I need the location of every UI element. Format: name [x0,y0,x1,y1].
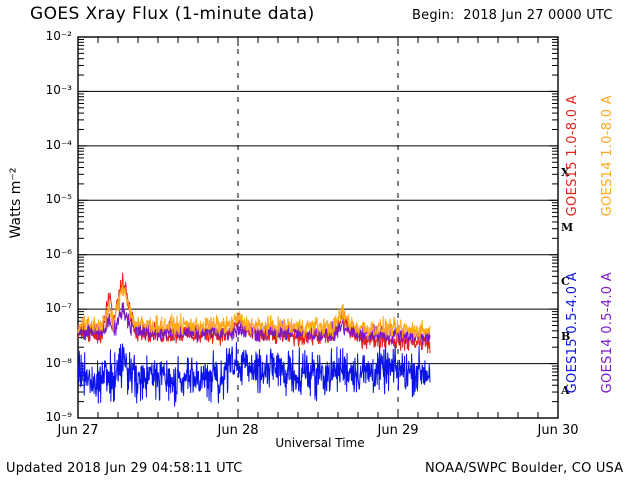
y-tick-label: 10⁻⁹ [26,411,72,423]
flare-class-label: M [561,222,573,233]
y-tick-label: 10⁻⁴ [26,139,72,151]
y-tick-label: 10⁻⁸ [26,357,72,369]
y-tick-label: 10⁻⁷ [26,302,72,314]
legend-goes14-short: GOES14 0.5-4.0 A [600,272,615,393]
x-tick-label: Jun 27 [33,424,123,437]
source-credit: NOAA/SWPC Boulder, CO USA [425,462,623,475]
y-tick-label: 10⁻⁵ [26,193,72,205]
legend-goes15-long: GOES15 1.0-8.0 A [565,95,580,216]
y-tick-label: 10⁻² [26,30,72,42]
x-tick-label: Jun 30 [513,424,603,437]
x-tick-label: Jun 29 [353,424,443,437]
legend-goes15-short: GOES15 0.5-4.0 A [565,272,580,393]
legend-goes14-long: GOES14 1.0-8.0 A [600,95,615,216]
plot-area [0,0,640,480]
updated-timestamp: Updated 2018 Jun 29 04:58:11 UTC [6,462,243,475]
y-tick-label: 10⁻⁶ [26,248,72,260]
chart-figure: GOES Xray Flux (1-minute data) Begin: 20… [0,0,640,480]
series-line [78,342,430,406]
x-tick-label: Jun 28 [193,424,283,437]
y-tick-label: 10⁻³ [26,84,72,96]
